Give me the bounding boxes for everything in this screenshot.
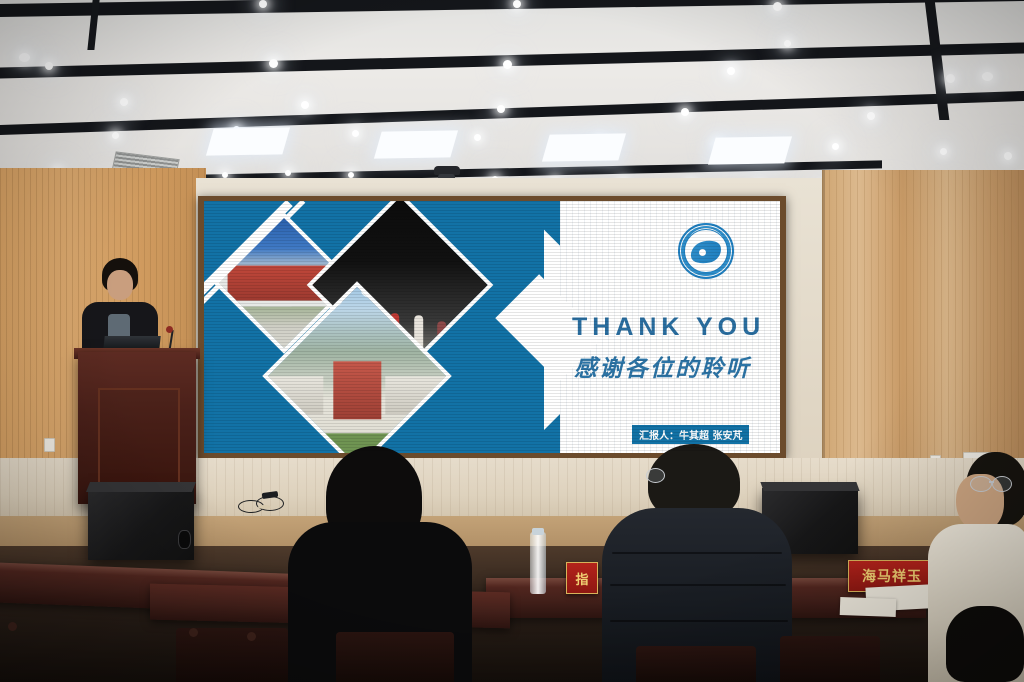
slide-credit: 汇报人：牛其超 张安芃 bbox=[632, 425, 749, 444]
downlight bbox=[112, 132, 119, 139]
downlight bbox=[1004, 152, 1012, 160]
water-bottle-cap bbox=[532, 528, 544, 535]
downlight bbox=[301, 101, 309, 109]
ceiling-panel-light bbox=[374, 130, 458, 158]
downlight bbox=[285, 170, 291, 176]
audience-right-glasses bbox=[970, 476, 992, 492]
chair-knob bbox=[189, 628, 198, 637]
audience-right-glasses-lens2 bbox=[992, 476, 1012, 492]
downlight bbox=[120, 98, 128, 106]
downlight bbox=[19, 53, 30, 62]
nameplate-left: 指 bbox=[566, 562, 598, 594]
conference-room-photo: THANK YOU 感谢各位的聆听 汇报人：牛其超 张安芃 指 海马祥玉 bbox=[0, 0, 1024, 682]
chair bbox=[636, 646, 756, 682]
audience-center-quilt-line bbox=[610, 584, 786, 586]
ceiling-panel-light bbox=[542, 133, 626, 161]
led-screen[interactable]: THANK YOU 感谢各位的聆听 汇报人：牛其超 张安芃 bbox=[204, 201, 780, 453]
downlight bbox=[681, 108, 689, 116]
downlight bbox=[513, 0, 521, 8]
university-logo-icon bbox=[678, 223, 734, 279]
wall-outlet bbox=[44, 438, 55, 452]
downlight bbox=[497, 105, 505, 113]
audience-right-back bbox=[946, 606, 1024, 682]
downlight bbox=[832, 143, 839, 150]
chair-knob bbox=[8, 622, 17, 631]
slide-heading: THANK YOU bbox=[572, 313, 765, 342]
downlight bbox=[727, 67, 735, 75]
downlight bbox=[946, 74, 955, 83]
presentation-slide: THANK YOU 感谢各位的聆听 汇报人：牛其超 张安芃 bbox=[204, 201, 780, 453]
document-paper bbox=[840, 597, 897, 617]
stage-cable bbox=[256, 496, 284, 511]
floor-microphone-base bbox=[258, 505, 271, 509]
podium-microphone[interactable] bbox=[166, 326, 173, 333]
downlight bbox=[867, 112, 875, 120]
audience-center-glasses bbox=[646, 468, 665, 483]
chair bbox=[780, 636, 880, 682]
downlight bbox=[982, 72, 993, 81]
downlight bbox=[940, 148, 947, 155]
chair bbox=[336, 632, 454, 682]
downlight bbox=[45, 62, 53, 70]
speaker-left-top bbox=[86, 482, 196, 492]
water-bottle bbox=[530, 532, 546, 594]
podium-front-panel bbox=[98, 388, 180, 490]
audience-center-quilt-line bbox=[610, 620, 788, 622]
downlight bbox=[784, 40, 791, 47]
downlight bbox=[503, 60, 512, 69]
slide-subheading: 感谢各位的聆听 bbox=[574, 349, 751, 383]
downlight bbox=[259, 0, 267, 8]
speaker-left-port bbox=[178, 530, 191, 549]
presenter-face bbox=[107, 270, 133, 300]
downlight bbox=[474, 134, 481, 141]
downlight bbox=[269, 59, 278, 68]
audience-center-quilt-line bbox=[612, 552, 782, 554]
audience-right-glasses-bridge bbox=[989, 481, 994, 483]
audience-right-back-hair bbox=[946, 606, 1024, 682]
downlight bbox=[352, 130, 359, 137]
ceiling-panel-light bbox=[206, 127, 290, 155]
speaker-left bbox=[88, 488, 194, 560]
downlight bbox=[773, 2, 782, 11]
chair-knob bbox=[247, 632, 256, 641]
ceiling-panel-light bbox=[708, 136, 792, 164]
